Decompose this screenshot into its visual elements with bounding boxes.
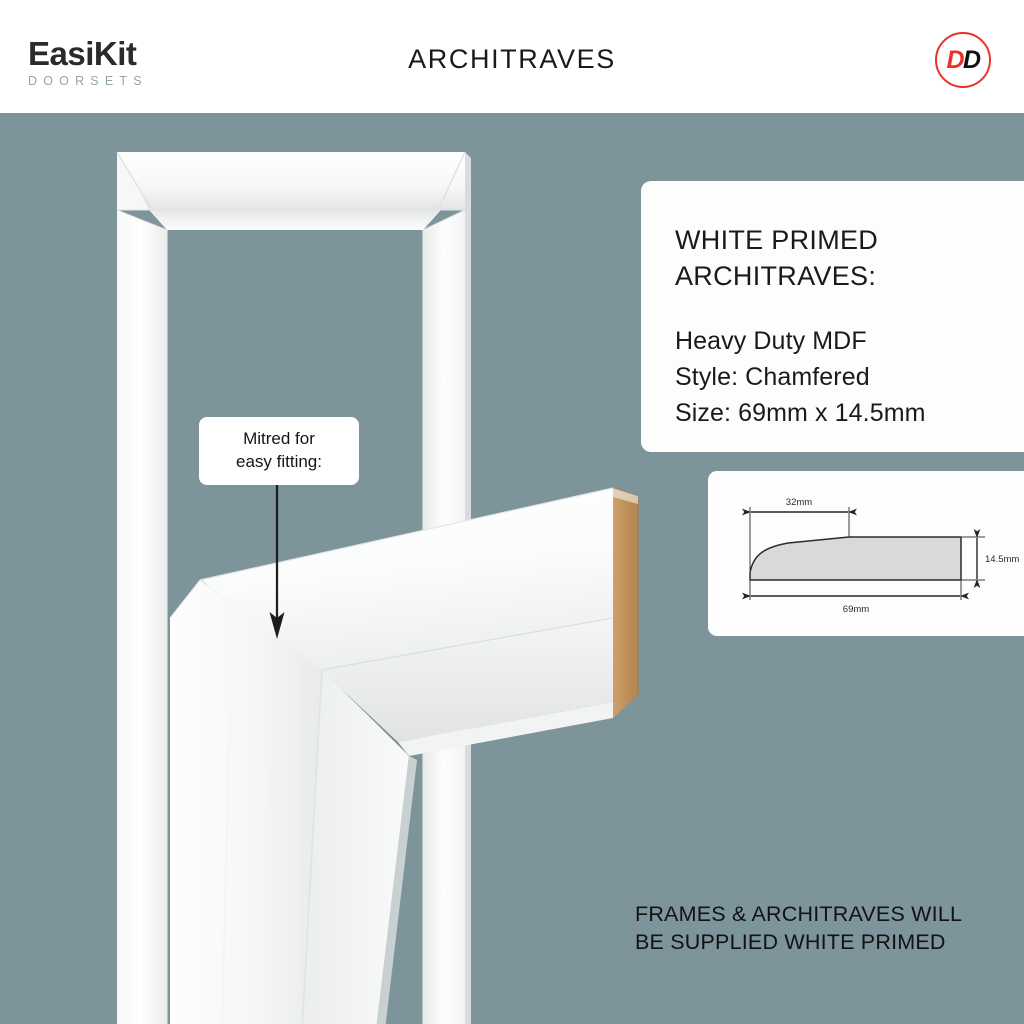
- diagram-dim-top: 32mm: [786, 497, 812, 508]
- footnote-line-2: BE SUPPLIED WHITE PRIMED: [635, 929, 995, 957]
- info-spec-style: Style: Chamfered: [675, 359, 1024, 395]
- supply-footnote: FRAMES & ARCHITRAVES WILL BE SUPPLIED WH…: [635, 901, 995, 956]
- info-spec-size: Size: 69mm x 14.5mm: [675, 395, 1024, 431]
- footnote-line-1: FRAMES & ARCHITRAVES WILL: [635, 901, 995, 929]
- mitred-architrave-3d-illustration: [170, 470, 670, 1024]
- logo-tagline: DOORSETS: [28, 75, 228, 88]
- info-card-body: Heavy Duty MDF Style: Chamfered Size: 69…: [675, 323, 1024, 431]
- dd-badge-letter-2: D: [963, 48, 980, 73]
- diagram-dim-right: 14.5mm: [985, 554, 1019, 565]
- info-heading-line-1: WHITE PRIMED: [675, 223, 1024, 259]
- product-info-card: WHITE PRIMED ARCHITRAVES: Heavy Duty MDF…: [641, 181, 1024, 452]
- info-spec-material: Heavy Duty MDF: [675, 323, 1024, 359]
- mitred-callout: Mitred for easy fitting:: [199, 417, 359, 485]
- profile-diagram-card: 32mm 69mm 14.5mm: [708, 471, 1024, 636]
- page-header: EasiKit DOORSETS ARCHITRAVES DD: [0, 0, 1024, 113]
- dd-badge-letter-1: D: [946, 48, 963, 73]
- info-heading-line-2: ARCHITRAVES:: [675, 259, 1024, 295]
- diagram-dim-bottom: 69mm: [843, 604, 869, 615]
- dd-brand-badge[interactable]: DD: [935, 32, 991, 88]
- page-title: ARCHITRAVES: [0, 44, 1024, 75]
- product-infographic: Mitred for easy fitting: WHITE PRIMED AR…: [0, 0, 1024, 1024]
- callout-line-1: Mitred for: [243, 428, 315, 451]
- callout-arrow-icon: [262, 484, 292, 649]
- callout-line-2: easy fitting:: [236, 451, 322, 474]
- info-card-heading: WHITE PRIMED ARCHITRAVES:: [675, 223, 1024, 295]
